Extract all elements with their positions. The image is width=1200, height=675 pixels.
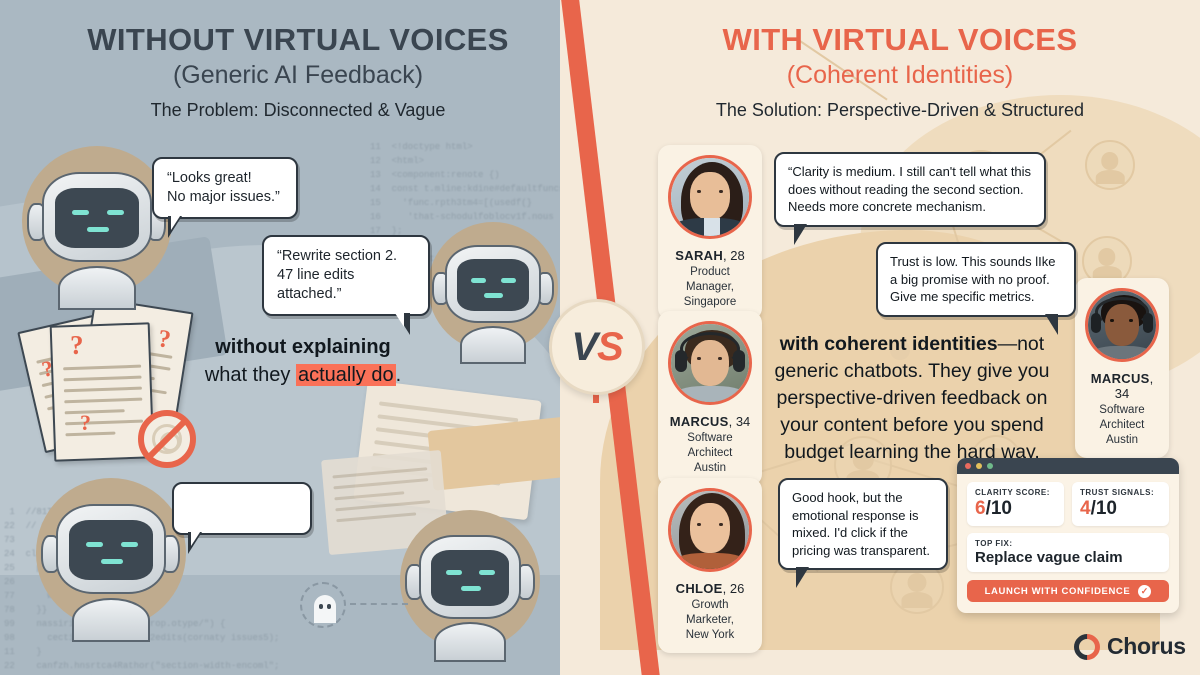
feedback-bubble-clarity: “Clarity is medium. I still can't tell w… (774, 152, 1046, 227)
dashed-connector-line (350, 603, 408, 605)
launch-with-confidence-button[interactable]: LAUNCH WITH CONFIDENCE ✓ (967, 580, 1169, 602)
dashboard-titlebar (957, 458, 1179, 474)
ghost-icon (314, 595, 336, 619)
persona-card-sarah[interactable]: SARAH, 28 Product Manager, Singapore (658, 145, 762, 320)
avatar (1085, 288, 1159, 362)
persona-role: Software Architect Austin (1083, 403, 1161, 448)
right-header: WITH VIRTUAL VOICES (Coherent Identities… (620, 22, 1180, 121)
feedback-bubble-hook: Good hook, but the emotional response is… (778, 478, 948, 570)
network-person-node (1085, 140, 1135, 190)
avatar (668, 488, 752, 572)
check-circle-icon: ✓ (1138, 585, 1151, 598)
robot-avatar-bottom-left (36, 478, 186, 628)
robot-avatar-mid-right (428, 222, 558, 352)
infographic-canvas: 11 <!doctype html> 12 <html> 13 <compone… (0, 0, 1200, 675)
feedback-bubble-trust: Trust is low. This sounds lIke a big pro… (876, 242, 1076, 317)
speech-bubble-rewrite: “Rewrite section 2. 47 line edits attach… (262, 235, 430, 316)
results-dashboard[interactable]: CLARITY SCORE: 6/10 TRUST SIGNALS: 4/10 … (957, 458, 1179, 613)
chorus-c-icon (1074, 634, 1100, 660)
clarity-score-tile: CLARITY SCORE: 6/10 (967, 482, 1064, 526)
vs-letter-s: S (597, 325, 623, 370)
right-subtitle: (Coherent Identities) (620, 61, 1180, 90)
minimize-dot-icon[interactable] (976, 463, 982, 469)
question-mark-icon: ? (80, 410, 91, 436)
persona-role: Growth Marketer, New York (666, 598, 754, 643)
top-fix-value: Replace vague claim (975, 549, 1161, 566)
persona-card-chloe[interactable]: CHLOE, 26 Growth Marketer, New York (658, 478, 762, 653)
left-header: WITHOUT VIRTUAL VOICES (Generic AI Feedb… (38, 22, 558, 121)
right-title: WITH VIRTUAL VOICES (620, 22, 1180, 58)
right-lead-bold: with coherent identities (780, 333, 998, 355)
trust-signals-label: TRUST SIGNALS: (1080, 488, 1161, 497)
persona-role: Software Architect Austin (666, 431, 754, 476)
left-lead-bold: without explaining (215, 336, 391, 358)
right-tagline: The Solution: Perspective-Driven & Struc… (620, 100, 1180, 121)
left-lead-highlight: actually do (296, 364, 396, 386)
persona-name: SARAH, 28 (666, 248, 754, 263)
speech-bubble-empty (172, 482, 312, 535)
cta-label: LAUNCH WITH CONFIDENCE (985, 586, 1131, 597)
question-mark-icon: ? (70, 330, 84, 361)
persona-name: MARCUS, 34 (1083, 371, 1161, 401)
top-fix-label: TOP FIX: (975, 539, 1161, 548)
persona-name: MARCUS, 34 (666, 414, 754, 429)
left-lead-end: . (396, 364, 402, 386)
chorus-wordmark: Chorus (1107, 633, 1186, 660)
close-dot-icon[interactable] (965, 463, 971, 469)
persona-card-marcus-center[interactable]: MARCUS, 34 Software Architect Austin (658, 311, 762, 486)
avatar (668, 155, 752, 239)
clarity-score-value: 6/10 (975, 498, 1056, 520)
ghost-node-circle (300, 582, 346, 628)
maximize-dot-icon[interactable] (987, 463, 993, 469)
persona-card-marcus-right[interactable]: MARCUS, 34 Software Architect Austin (1075, 278, 1169, 458)
avatar (668, 321, 752, 405)
vs-letter-v: V (571, 325, 597, 370)
prohibition-icon (138, 410, 196, 468)
left-lead-plain: what they (205, 364, 296, 386)
robot-avatar-bottom-right (400, 510, 540, 650)
chorus-logo: Chorus (1074, 633, 1186, 660)
clarity-score-label: CLARITY SCORE: (975, 488, 1056, 497)
trust-signals-tile: TRUST SIGNALS: 4/10 (1072, 482, 1169, 526)
left-title: WITHOUT VIRTUAL VOICES (38, 22, 558, 58)
top-fix-tile: TOP FIX: Replace vague claim (967, 533, 1169, 572)
persona-role: Product Manager, Singapore (666, 265, 754, 310)
left-lead-text: without explaining what they actually do… (178, 333, 428, 389)
vs-badge: VS (549, 299, 645, 395)
left-tagline: The Problem: Disconnected & Vague (38, 100, 558, 121)
trust-signals-value: 4/10 (1080, 498, 1161, 520)
robot-avatar-top-left (22, 146, 172, 296)
left-subtitle: (Generic AI Feedback) (38, 61, 558, 90)
persona-name: CHLOE, 26 (666, 581, 754, 596)
speech-bubble-looks-great: “Looks great! No major issues.” (152, 157, 298, 219)
right-lead-text: with coherent identities—not generic cha… (772, 331, 1052, 466)
